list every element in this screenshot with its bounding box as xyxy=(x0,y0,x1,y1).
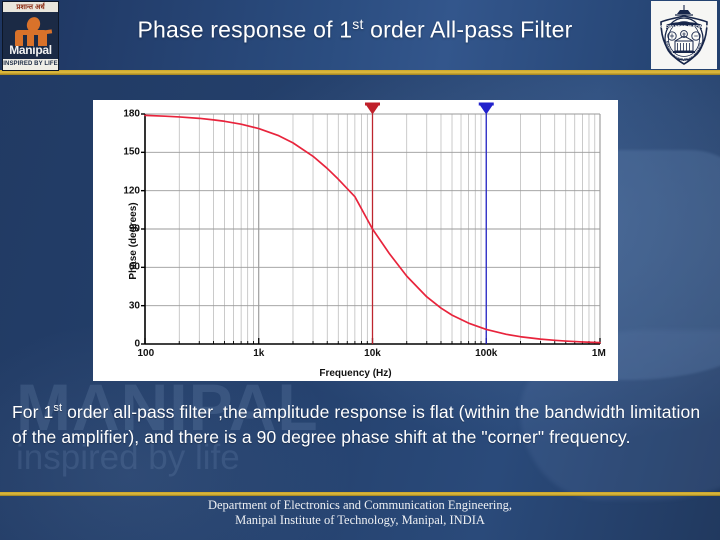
y-tick-label: 120 xyxy=(123,185,145,196)
cursor-red-triangle-down-icon[interactable] xyxy=(366,105,379,115)
page-title-main: Phase response of 1 xyxy=(138,17,353,43)
cursor-blue-triangle-down-icon[interactable] xyxy=(480,105,493,115)
manipal-logo-hindi-text: प्रशान्त अर्ध xyxy=(3,2,58,12)
header-gold-rule xyxy=(0,70,720,75)
svg-text:KNOWLEDGE IS POWER: KNOWLEDGE IS POWER xyxy=(660,24,709,29)
y-tick-label: 60 xyxy=(129,262,145,273)
body-text-b: order all-pass filter ,the amplitude res… xyxy=(12,402,700,447)
slide-footer: Department of Electronics and Communicat… xyxy=(0,498,720,528)
chart-plot-area: 03060901201501801001k10k100k1M xyxy=(145,114,600,344)
chart-inner: Phase (degrees) Frequency (Hz) 030609012… xyxy=(93,100,618,381)
cursor-blue-handle[interactable] xyxy=(479,103,494,106)
chart-x-axis-label: Frequency (Hz) xyxy=(93,368,618,379)
x-tick-label: 1M xyxy=(592,348,606,359)
body-text-superscript: st xyxy=(53,402,62,414)
x-tick-label: 1k xyxy=(253,348,264,359)
footer-gold-rule xyxy=(0,492,720,496)
mit-crest-icon: KNOWLEDGE IS POWER MANIPAL INSTITUTE OF … xyxy=(653,3,715,67)
x-tick-label: 100 xyxy=(137,348,154,359)
phase-response-chart: Phase (degrees) Frequency (Hz) 030609012… xyxy=(93,100,618,381)
slide: MANIPAL inspired by life प्रशान्त अर्ध M… xyxy=(0,0,720,540)
cursor-red-handle[interactable] xyxy=(365,103,380,106)
y-tick-label: 180 xyxy=(123,109,145,120)
page-title-rest: order All-pass Filter xyxy=(364,17,573,43)
x-tick-label: 100k xyxy=(475,348,497,359)
body-text-a: For 1 xyxy=(12,402,53,422)
manipal-logo: प्रशान्त अर्ध Manipal INSPIRED BY LIFE xyxy=(2,1,59,71)
footer-line-1: Department of Electronics and Communicat… xyxy=(0,498,720,513)
body-paragraph: For 1st order all-pass filter ,the ampli… xyxy=(12,396,712,450)
slide-header: प्रशान्त अर्ध Manipal INSPIRED BY LIFE P… xyxy=(0,0,720,70)
manipal-logo-name: Manipal xyxy=(9,44,52,57)
y-tick-label: 90 xyxy=(129,224,145,235)
page-title: Phase response of 1st order All-pass Fil… xyxy=(64,16,646,44)
footer-line-2: Manipal Institute of Technology, Manipal… xyxy=(0,513,720,528)
y-tick-label: 150 xyxy=(123,147,145,158)
manipal-logo-tagline: INSPIRED BY LIFE xyxy=(3,59,58,70)
mit-crest-logo: KNOWLEDGE IS POWER MANIPAL INSTITUTE OF … xyxy=(651,1,717,69)
chart-svg xyxy=(145,114,600,344)
y-tick-label: 30 xyxy=(129,300,145,311)
manipal-logo-figure-icon xyxy=(3,12,58,44)
page-title-superscript: st xyxy=(352,16,363,32)
x-tick-label: 10k xyxy=(364,348,381,359)
